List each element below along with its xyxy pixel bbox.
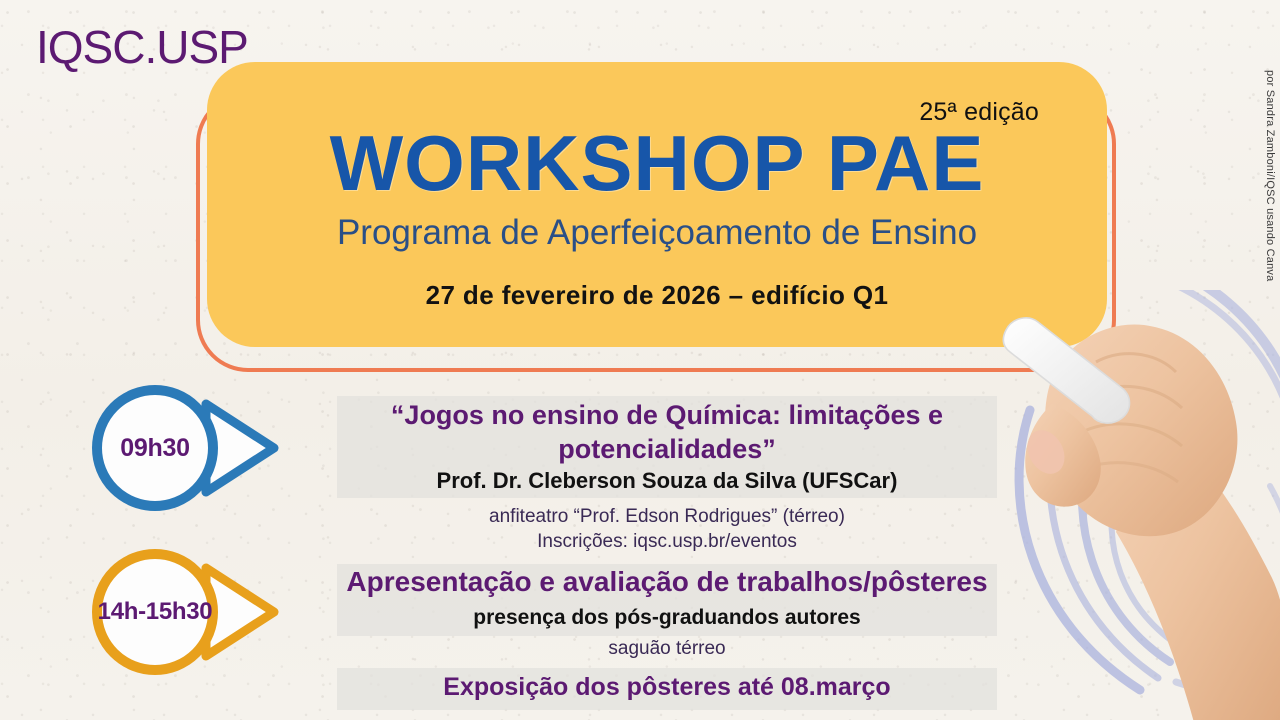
title-banner: 25ª edição WORKSHOP PAE Programa de Aper… bbox=[207, 62, 1107, 347]
poster-canvas: IQSC.USP por Sandra Zamboni/IQSC usando … bbox=[0, 0, 1280, 720]
session-1-speaker: Prof. Dr. Cleberson Souza da Silva (UFSC… bbox=[337, 468, 997, 494]
session-2-title: Apresentação e avaliação de trabalhos/pô… bbox=[337, 566, 997, 598]
arrow-right-icon bbox=[88, 542, 298, 682]
session-2-note: presença dos pós-graduandos autores bbox=[337, 606, 997, 630]
time-badge-14h: 14h-15h30 bbox=[88, 542, 298, 682]
date-venue-label: 27 de fevereiro de 2026 – edifício Q1 bbox=[207, 280, 1107, 311]
session-2-venue: saguão térreo bbox=[337, 638, 997, 660]
iqsc-usp-logo: IQSC.USP bbox=[36, 20, 248, 74]
session-1-venue: anfiteatro “Prof. Edson Rodrigues” (térr… bbox=[337, 505, 997, 554]
arrow-right-icon bbox=[88, 378, 298, 518]
session-1-registration-link[interactable]: Inscrições: iqsc.usp.br/eventos bbox=[337, 530, 997, 555]
time-badge-0930: 09h30 bbox=[88, 378, 298, 518]
exhibit-notice: Exposição dos pôsteres até 08.março bbox=[337, 673, 997, 702]
credit-text: por Sandra Zamboni/IQSC usando Canva bbox=[1264, 70, 1276, 281]
page-subtitle: Programa de Aperfeiçoamento de Ensino bbox=[207, 214, 1107, 253]
session-1-title: “Jogos no ensino de Química: limitações … bbox=[337, 398, 997, 466]
hand-holding-chalk-icon bbox=[1000, 270, 1280, 720]
session-1-venue-line1: anfiteatro “Prof. Edson Rodrigues” (térr… bbox=[337, 505, 997, 530]
page-title: WORKSHOP PAE bbox=[207, 124, 1107, 202]
